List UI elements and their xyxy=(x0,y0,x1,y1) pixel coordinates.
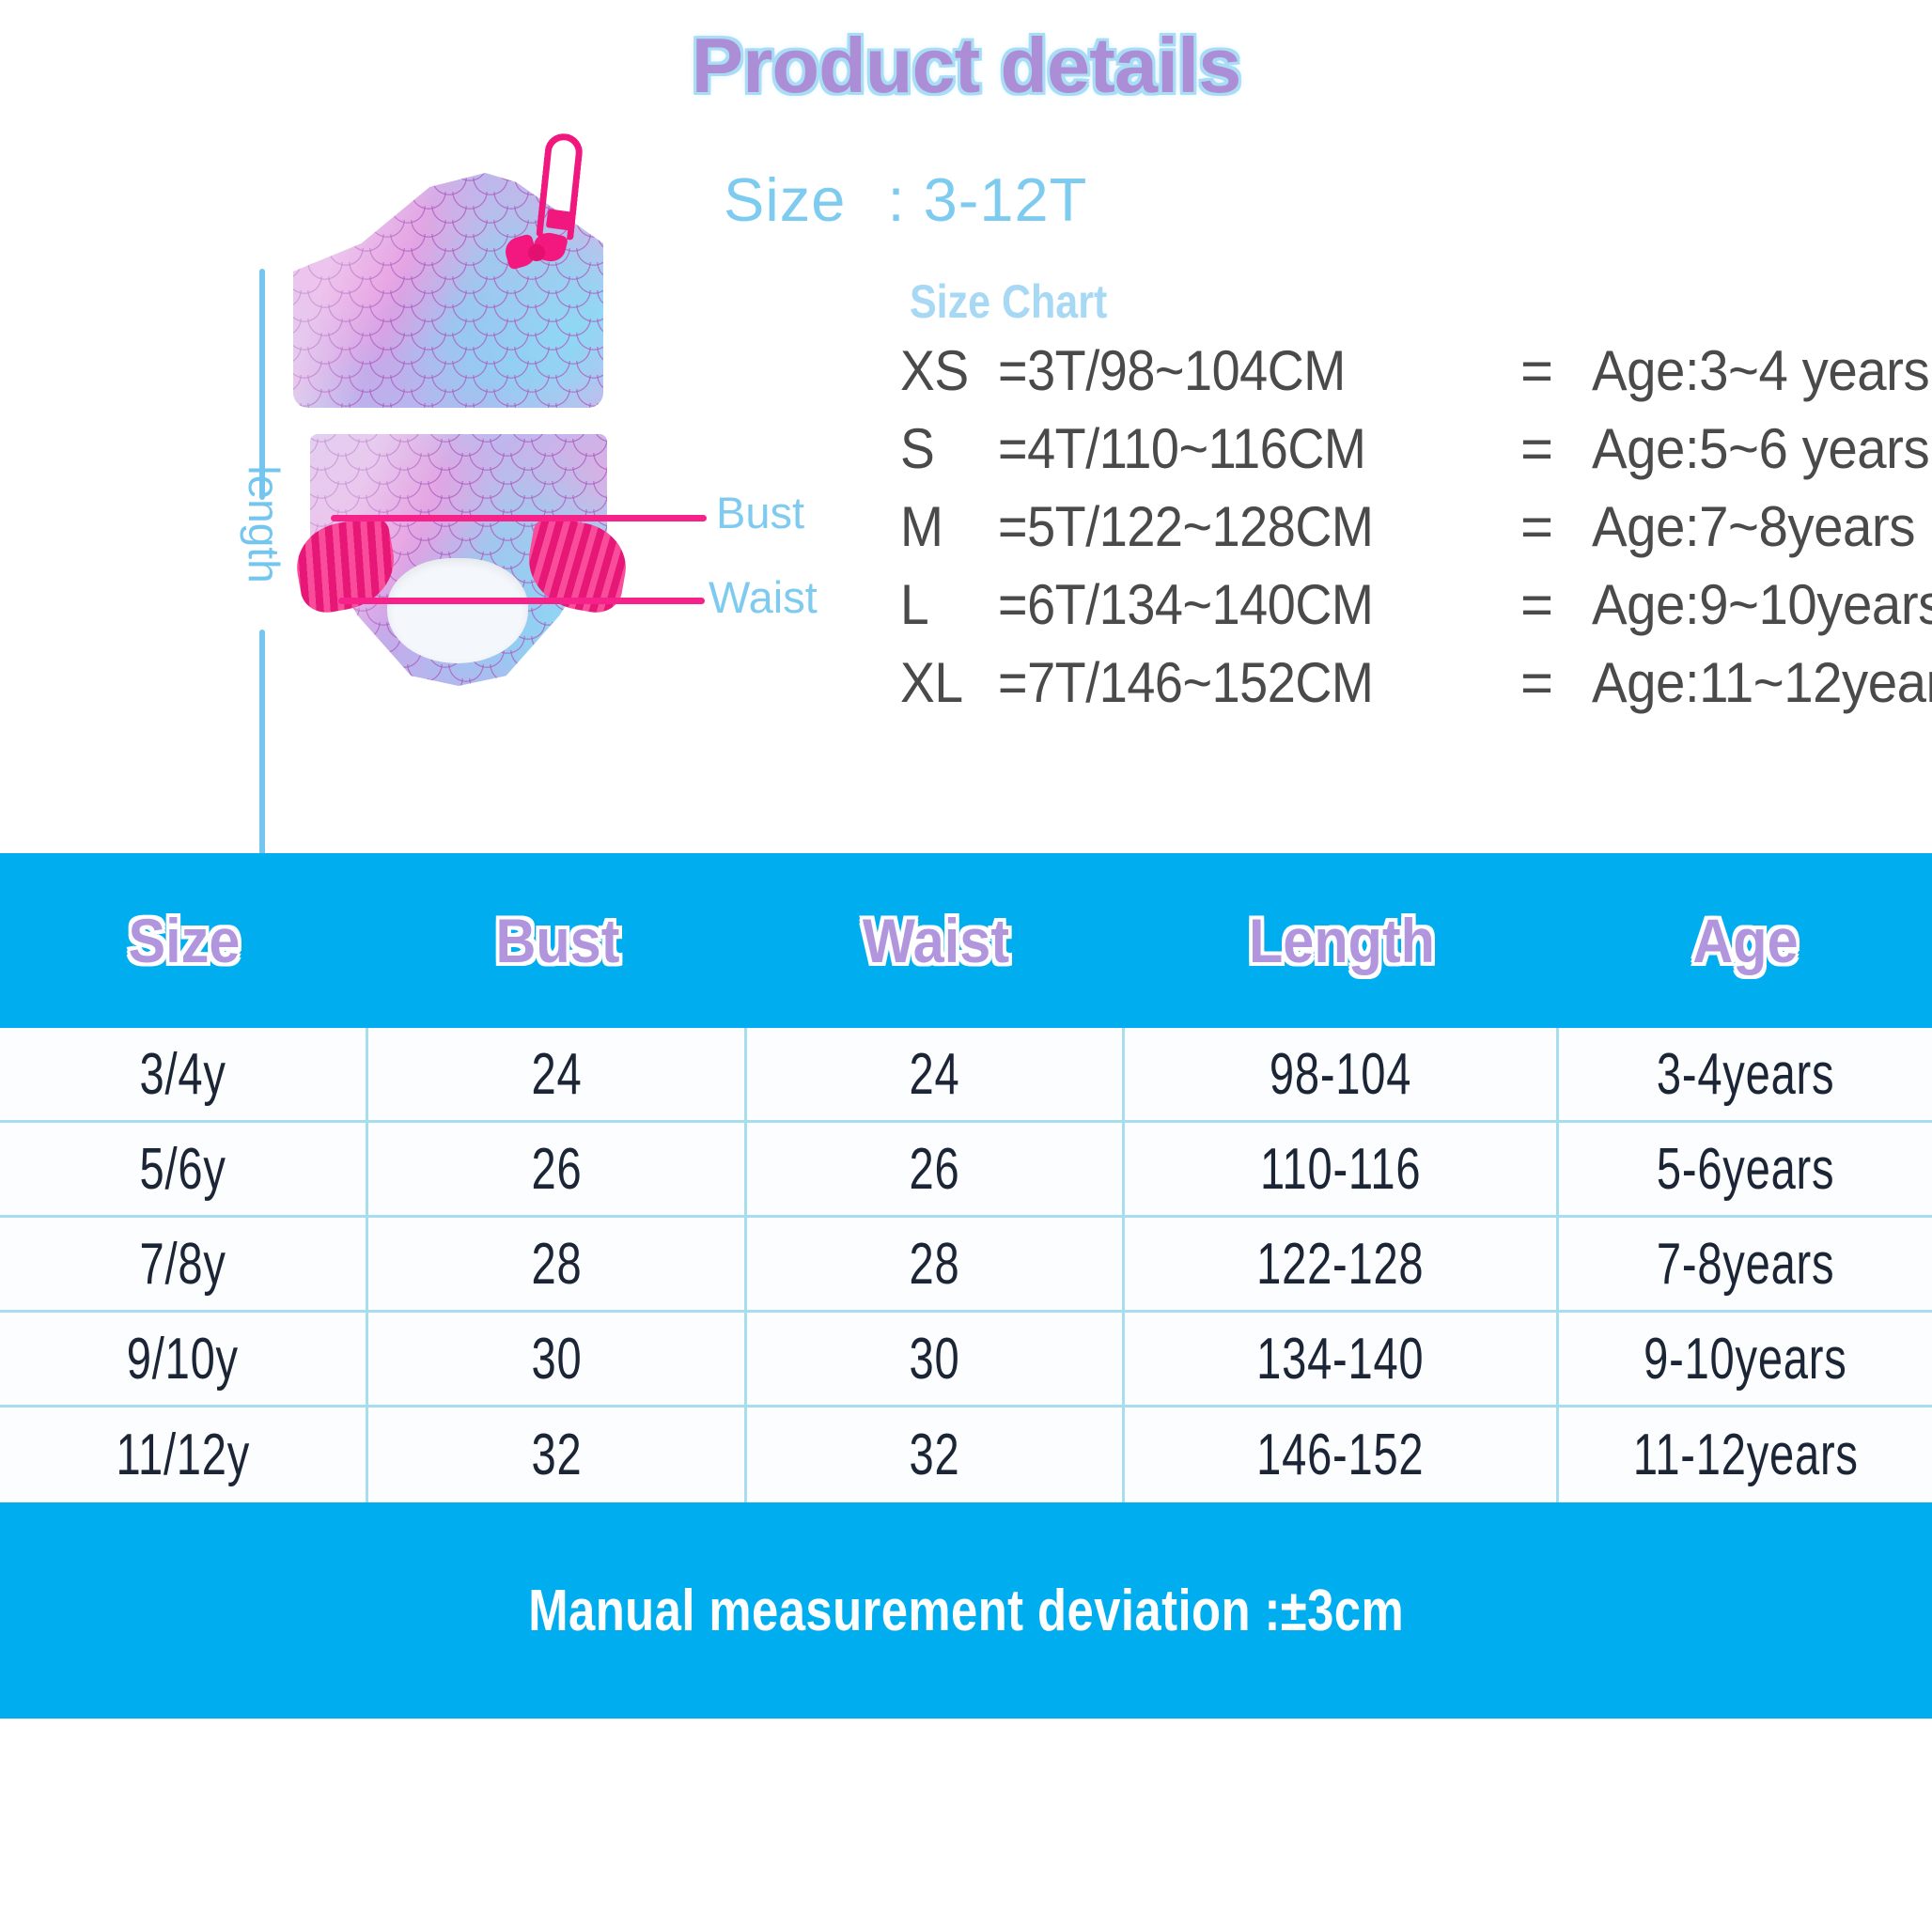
cell-age: 9-10years xyxy=(1559,1313,1932,1405)
cell-bust: 30 xyxy=(368,1313,747,1405)
table-row: 9/10y 30 30 134-140 9-10years xyxy=(0,1313,1932,1408)
table-footer: Manual measurement deviation :±3cm xyxy=(0,1502,1932,1719)
cell-age: 3-4years xyxy=(1559,1028,1932,1120)
cell-length: 146-152 xyxy=(1125,1408,1559,1502)
size-equals: = xyxy=(1520,572,1592,637)
cell-size: 9/10y xyxy=(0,1313,368,1405)
size-equals: = xyxy=(1520,338,1592,403)
bottom-lining xyxy=(387,558,528,663)
bust-measure-line xyxy=(331,515,707,521)
cell-bust: 28 xyxy=(368,1218,747,1310)
size-heading-label: Size xyxy=(724,165,846,234)
size-code: M xyxy=(900,494,990,559)
size-heading: Size: 3-12T xyxy=(724,164,1087,235)
size-code: XL xyxy=(900,650,990,715)
measurement-deviation-note: Manual measurement deviation :±3cm xyxy=(528,1578,1404,1644)
cell-size: 11/12y xyxy=(0,1408,368,1502)
cell-bust: 24 xyxy=(368,1028,747,1120)
size-heading-value: : 3-12T xyxy=(887,165,1087,234)
strap-buckle xyxy=(546,209,575,231)
table-row: 3/4y 24 24 98-104 3-4years xyxy=(0,1028,1932,1123)
cell-size: 3/4y xyxy=(0,1028,368,1120)
table-row: 11/12y 32 32 146-152 11-12years xyxy=(0,1408,1932,1502)
size-chart-list-item: XS =3T/98~104CM = Age:3~4 years xyxy=(900,338,1932,416)
column-header-age: Age xyxy=(1578,905,1913,976)
size-table: Size Bust Waist Length Age 3/4y 24 24 98… xyxy=(0,853,1932,1719)
cell-age: 11-12years xyxy=(1559,1408,1932,1502)
cell-age: 7-8years xyxy=(1559,1218,1932,1310)
size-cm: =6T/134~140CM xyxy=(998,572,1468,637)
size-cm: =5T/122~128CM xyxy=(998,494,1468,559)
size-code: S xyxy=(900,416,990,481)
size-age: Age:9~10years xyxy=(1592,572,1932,637)
waist-measure-line xyxy=(338,598,705,604)
bust-label: Bust xyxy=(716,487,804,538)
table-header-row: Size Bust Waist Length Age xyxy=(0,853,1932,1028)
table-row: 7/8y 28 28 122-128 7-8years xyxy=(0,1218,1932,1313)
cell-waist: 32 xyxy=(747,1408,1125,1502)
size-age: Age:3~4 years xyxy=(1592,338,1929,403)
page-title: Product details xyxy=(0,21,1932,111)
cell-size: 5/6y xyxy=(0,1123,368,1215)
size-cm: =4T/110~116CM xyxy=(998,416,1468,481)
size-age: Age:5~6 years xyxy=(1592,416,1929,481)
size-chart-kicker: Size Chart xyxy=(910,274,1107,329)
size-chart-list-item: L =6T/134~140CM = Age:9~10years xyxy=(900,572,1932,650)
product-photo xyxy=(282,113,705,714)
size-cm: =7T/146~152CM xyxy=(998,650,1468,715)
column-header-length: Length xyxy=(1146,905,1537,976)
waist-label: Waist xyxy=(709,571,818,623)
size-chart-list-item: S =4T/110~116CM = Age:5~6 years xyxy=(900,416,1932,494)
cell-length: 110-116 xyxy=(1125,1123,1559,1215)
cell-bust: 26 xyxy=(368,1123,747,1215)
size-code: XS xyxy=(900,338,990,403)
cell-waist: 24 xyxy=(747,1028,1125,1120)
column-header-size: Size xyxy=(19,905,351,976)
size-chart-page: Product details length Bust Waist Size: … xyxy=(0,0,1932,1929)
table-row: 5/6y 26 26 110-116 5-6years xyxy=(0,1123,1932,1218)
cell-length: 122-128 xyxy=(1125,1218,1559,1310)
size-code: L xyxy=(900,572,990,637)
cell-age: 5-6years xyxy=(1559,1123,1932,1215)
length-measure-line-lower xyxy=(259,630,265,864)
size-chart-list: XS =3T/98~104CM = Age:3~4 years S =4T/11… xyxy=(900,338,1932,728)
size-equals: = xyxy=(1520,416,1592,481)
size-age: Age:11~12years xyxy=(1592,650,1932,715)
size-chart-list-item: M =5T/122~128CM = Age:7~8years xyxy=(900,494,1932,572)
column-header-bust: Bust xyxy=(387,905,728,976)
cell-waist: 26 xyxy=(747,1123,1125,1215)
size-equals: = xyxy=(1520,650,1592,715)
cell-length: 98-104 xyxy=(1125,1028,1559,1120)
cell-size: 7/8y xyxy=(0,1218,368,1310)
cell-waist: 28 xyxy=(747,1218,1125,1310)
size-cm: =3T/98~104CM xyxy=(998,338,1468,403)
cell-bust: 32 xyxy=(368,1408,747,1502)
bow-icon xyxy=(506,231,568,274)
size-equals: = xyxy=(1520,494,1592,559)
size-chart-list-item: XL =7T/146~152CM = Age:11~12years xyxy=(900,650,1932,728)
table-body: 3/4y 24 24 98-104 3-4years 5/6y 26 26 11… xyxy=(0,1028,1932,1502)
cell-waist: 30 xyxy=(747,1313,1125,1405)
column-header-waist: Waist xyxy=(766,905,1106,976)
size-age: Age:7~8years xyxy=(1592,494,1915,559)
cell-length: 134-140 xyxy=(1125,1313,1559,1405)
